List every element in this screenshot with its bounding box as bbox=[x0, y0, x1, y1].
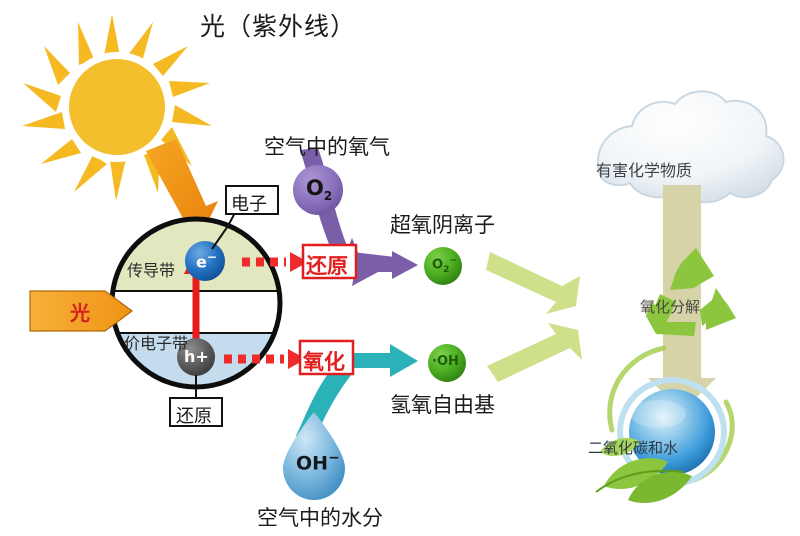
superoxide-formula-sup: − bbox=[449, 256, 457, 266]
cloud-label: 有害化学物质 bbox=[596, 157, 692, 181]
harmful-chemicals-cloud bbox=[598, 91, 784, 202]
hydroxyl-radical-label: 氢氧自由基 bbox=[390, 389, 495, 419]
diagram-title: 光（紫外线） bbox=[200, 7, 356, 43]
diagram-graphics-layer bbox=[0, 0, 800, 536]
recycle-icon bbox=[646, 248, 736, 336]
oxygen-formula-main: O bbox=[306, 176, 324, 200]
photocatalysis-diagram: 光（紫外线） 空气中的氧气 O2 电子 传导带 价电子带 光 e− h+ 还原 … bbox=[0, 0, 800, 536]
electron-callout-label: 电子 bbox=[231, 190, 267, 216]
oxidation-box-label: 氧化 bbox=[303, 346, 345, 376]
superoxide-formula-main: O bbox=[432, 257, 443, 272]
water-formula-sup: − bbox=[328, 450, 340, 466]
oxygen-source-label: 空气中的氧气 bbox=[264, 131, 390, 161]
co2-and-water-globe bbox=[596, 348, 732, 503]
sun-icon bbox=[22, 14, 212, 201]
superoxide-formula-sub: 2 bbox=[443, 265, 449, 275]
water-formula: OH− bbox=[296, 450, 340, 474]
hole-symbol: h+ bbox=[184, 347, 209, 366]
sunlight-beam-arrow bbox=[146, 139, 218, 232]
oxygen-formula-sub: 2 bbox=[324, 189, 332, 203]
reduction-box-label: 还原 bbox=[306, 250, 348, 280]
superoxide-anion-label: 超氧阴离子 bbox=[390, 209, 495, 239]
light-arrow-label: 光 bbox=[70, 297, 90, 326]
electron-symbol-main: e bbox=[196, 252, 207, 271]
water-formula-main: OH bbox=[296, 452, 328, 474]
green-arrow-lower bbox=[487, 323, 582, 382]
decomposition-label: 氧化分解 bbox=[640, 296, 700, 317]
superoxide-anion-formula: O2− bbox=[432, 256, 457, 275]
reduction-dotted-arrow bbox=[242, 252, 308, 272]
hydroxyl-radical-formula: ·OH bbox=[432, 354, 459, 369]
water-source-label: 空气中的水分 bbox=[257, 502, 383, 532]
oxidation-dotted-arrow bbox=[224, 349, 306, 369]
electron-symbol-sup: − bbox=[207, 250, 217, 264]
conduction-band-label: 传导带 bbox=[127, 257, 175, 281]
valence-band-label: 价电子带 bbox=[124, 330, 188, 354]
band-gap-fill bbox=[108, 291, 284, 333]
globe-label: 二氧化碳和水 bbox=[588, 437, 678, 458]
hole-callout-label: 还原 bbox=[176, 402, 212, 428]
oxygen-formula: O2 bbox=[306, 176, 332, 203]
electron-symbol: e− bbox=[196, 250, 217, 271]
green-arrow-upper bbox=[486, 252, 580, 314]
